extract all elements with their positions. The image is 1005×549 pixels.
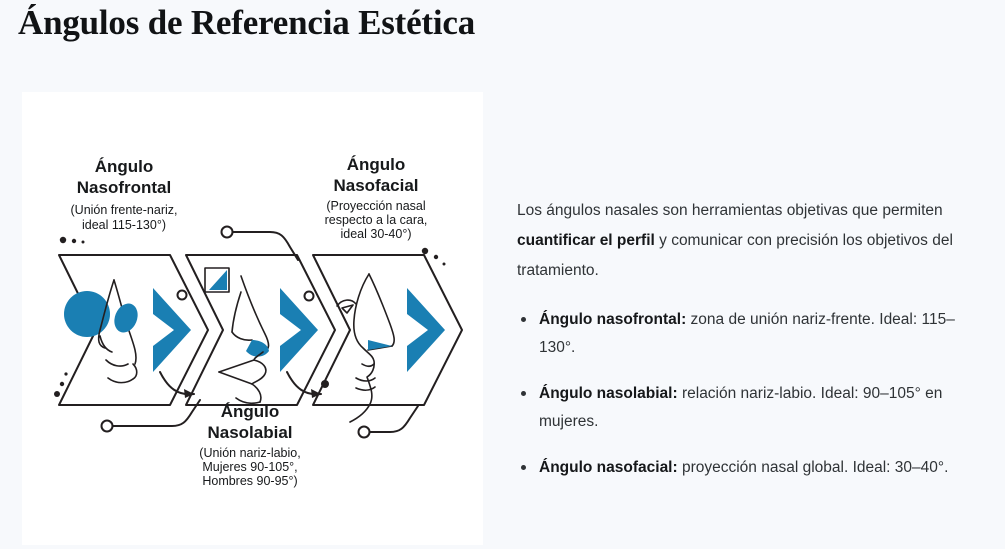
connector-node bbox=[359, 427, 370, 438]
intro-text-part1: Los ángulos nasales son herramientas obj… bbox=[517, 202, 943, 219]
explanation-column: Los ángulos nasales son herramientas obj… bbox=[517, 196, 987, 482]
list-item-text: proyección nasal global. Ideal: 30–40°. bbox=[678, 459, 949, 476]
decor-dot bbox=[422, 248, 428, 254]
panel-1-label: Ángulo Nasofrontal (Unión frente-nariz, … bbox=[71, 157, 178, 232]
face-profile-icon bbox=[337, 274, 394, 422]
panel-3-chevron-arrow bbox=[407, 288, 445, 372]
decor-dot bbox=[72, 239, 76, 243]
panel-1-title-line2: Nasofrontal bbox=[77, 178, 171, 197]
connector-node bbox=[222, 227, 233, 238]
bullet-marker-icon bbox=[521, 465, 526, 470]
angle-square-icon bbox=[205, 268, 229, 292]
intro-paragraph: Los ángulos nasales son herramientas obj… bbox=[517, 196, 987, 286]
panel-1-subtitle-line2: ideal 115-130°) bbox=[82, 218, 166, 232]
page-title: Ángulos de Referencia Estética bbox=[18, 2, 475, 44]
panel-2-label: Ángulo Nasolabial (Unión nariz-labio, Mu… bbox=[199, 402, 300, 488]
decor-dot bbox=[82, 241, 85, 244]
panel-3-label: Ángulo Nasofacial (Proyección nasal resp… bbox=[325, 155, 428, 241]
panel-1-chevron-arrow bbox=[153, 288, 191, 372]
list-item: Ángulo nasofacial: proyección nasal glob… bbox=[539, 454, 987, 482]
panel-2-subtitle-line1: (Unión nariz-labio, bbox=[199, 446, 300, 460]
list-item-term: Ángulo nasofacial: bbox=[539, 459, 678, 476]
decor-dot bbox=[434, 255, 438, 259]
decor-dot bbox=[60, 382, 64, 386]
diagram-card: Ángulo Nasofrontal (Unión frente-nariz, … bbox=[22, 92, 483, 545]
decor-dot bbox=[60, 237, 66, 243]
panel-3-subtitle-line3: ideal 30-40°) bbox=[340, 227, 411, 241]
panel-nasofacial bbox=[313, 248, 462, 422]
nasal-angles-diagram: Ángulo Nasofrontal (Unión frente-nariz, … bbox=[22, 92, 483, 545]
connector-node bbox=[102, 421, 113, 432]
list-item: Ángulo nasofrontal: zona de unión nariz-… bbox=[539, 306, 987, 362]
panel-2-title-line2: Nasolabial bbox=[207, 423, 292, 442]
nose-lip-profile-icon bbox=[219, 276, 269, 403]
decor-dot bbox=[54, 391, 60, 397]
connector-node bbox=[305, 292, 314, 301]
panel-2-chevron-arrow bbox=[280, 288, 318, 372]
angle-definition-list: Ángulo nasofrontal: zona de unión nariz-… bbox=[517, 306, 987, 482]
connector-node bbox=[178, 291, 187, 300]
list-item-term: Ángulo nasofrontal: bbox=[539, 311, 686, 328]
panel-2-title-line1: Ángulo bbox=[221, 402, 280, 421]
panel-1-circle-glyph bbox=[64, 291, 110, 337]
bullet-marker-icon bbox=[521, 391, 526, 396]
panel-1-title-line1: Ángulo bbox=[95, 157, 154, 176]
panel-3-subtitle-line1: (Proyección nasal bbox=[326, 199, 425, 213]
panel-3-title-line2: Nasofacial bbox=[333, 176, 418, 195]
panel-2-subtitle-line3: Hombres 90-95°) bbox=[202, 474, 297, 488]
panel-3-subtitle-line2: respecto a la cara, bbox=[325, 213, 428, 227]
intro-highlight: cuantificar el perfil bbox=[517, 232, 655, 249]
decor-dot bbox=[443, 263, 446, 266]
page-root: Ángulos de Referencia Estética bbox=[0, 0, 1005, 549]
nose-profile-icon bbox=[99, 280, 142, 383]
bullet-marker-icon bbox=[521, 317, 526, 322]
panel-3-title-line1: Ángulo bbox=[347, 155, 406, 174]
panel-2-subtitle-line2: Mujeres 90-105°, bbox=[202, 460, 297, 474]
panel-nasofrontal bbox=[54, 237, 208, 405]
panel-1-subtitle-line1: (Unión frente-nariz, bbox=[71, 203, 178, 217]
list-item: Ángulo nasolabial: relación nariz-labio.… bbox=[539, 380, 987, 436]
decor-dot bbox=[64, 372, 67, 375]
list-item-term: Ángulo nasolabial: bbox=[539, 385, 678, 402]
